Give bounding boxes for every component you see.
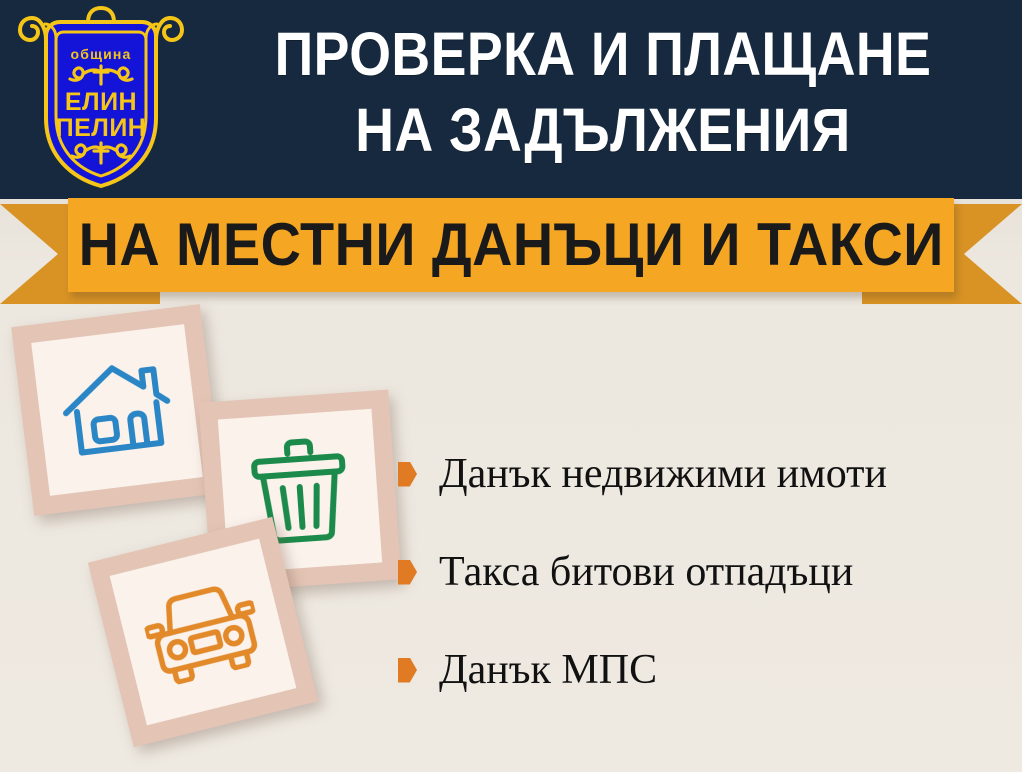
municipal-coat-of-arms-icon: община ЕЛИН ПЕЛИН: [18, 6, 184, 194]
arrow-bullet-icon: [398, 658, 417, 683]
house-icon: [55, 354, 178, 467]
page-title-line-2: НА ЗАДЪЛЖЕНИЯ: [240, 92, 967, 168]
list-item[interactable]: Данък МПС: [398, 621, 1008, 719]
crest-label-line-1: ЕЛИН: [65, 88, 137, 116]
ribbon-band: НА МЕСТНИ ДАНЪЦИ И ТАКСИ: [68, 198, 954, 292]
car-front-icon: [138, 575, 268, 689]
page-title-line-1: ПРОВЕРКА И ПЛАЩАНЕ: [240, 16, 967, 92]
header-banner: община ЕЛИН ПЕЛИН: [0, 0, 1022, 199]
stamp-card-house: [11, 304, 223, 516]
stamp-face-car: [110, 539, 297, 726]
subtitle-ribbon: НА МЕСТНИ ДАНЪЦИ И ТАКСИ: [0, 198, 1022, 310]
ribbon-text: НА МЕСТНИ ДАНЪЦИ И ТАКСИ: [78, 215, 943, 275]
crest-label-line-2: ПЕЛИН: [56, 114, 147, 142]
stamp-collage: [0, 300, 420, 772]
poster-root: община ЕЛИН ПЕЛИН: [0, 0, 1022, 772]
crest-label-small: община: [70, 46, 131, 62]
list-item[interactable]: Данък недвижими имоти: [398, 425, 1008, 523]
list-item-label: Такса битови отпадъци: [439, 549, 853, 595]
page-title: ПРОВЕРКА И ПЛАЩАНЕ НА ЗАДЪЛЖЕНИЯ: [240, 16, 967, 168]
arrow-bullet-icon: [398, 560, 417, 585]
list-item[interactable]: Такса битови отпадъци: [398, 523, 1008, 621]
stamp-face-house: [31, 324, 203, 496]
arrow-bullet-icon: [398, 462, 417, 487]
list-item-label: Данък МПС: [439, 647, 657, 693]
tax-type-list: Данък недвижими имоти Такса битови отпад…: [398, 425, 1008, 719]
list-item-label: Данък недвижими имоти: [439, 451, 887, 497]
